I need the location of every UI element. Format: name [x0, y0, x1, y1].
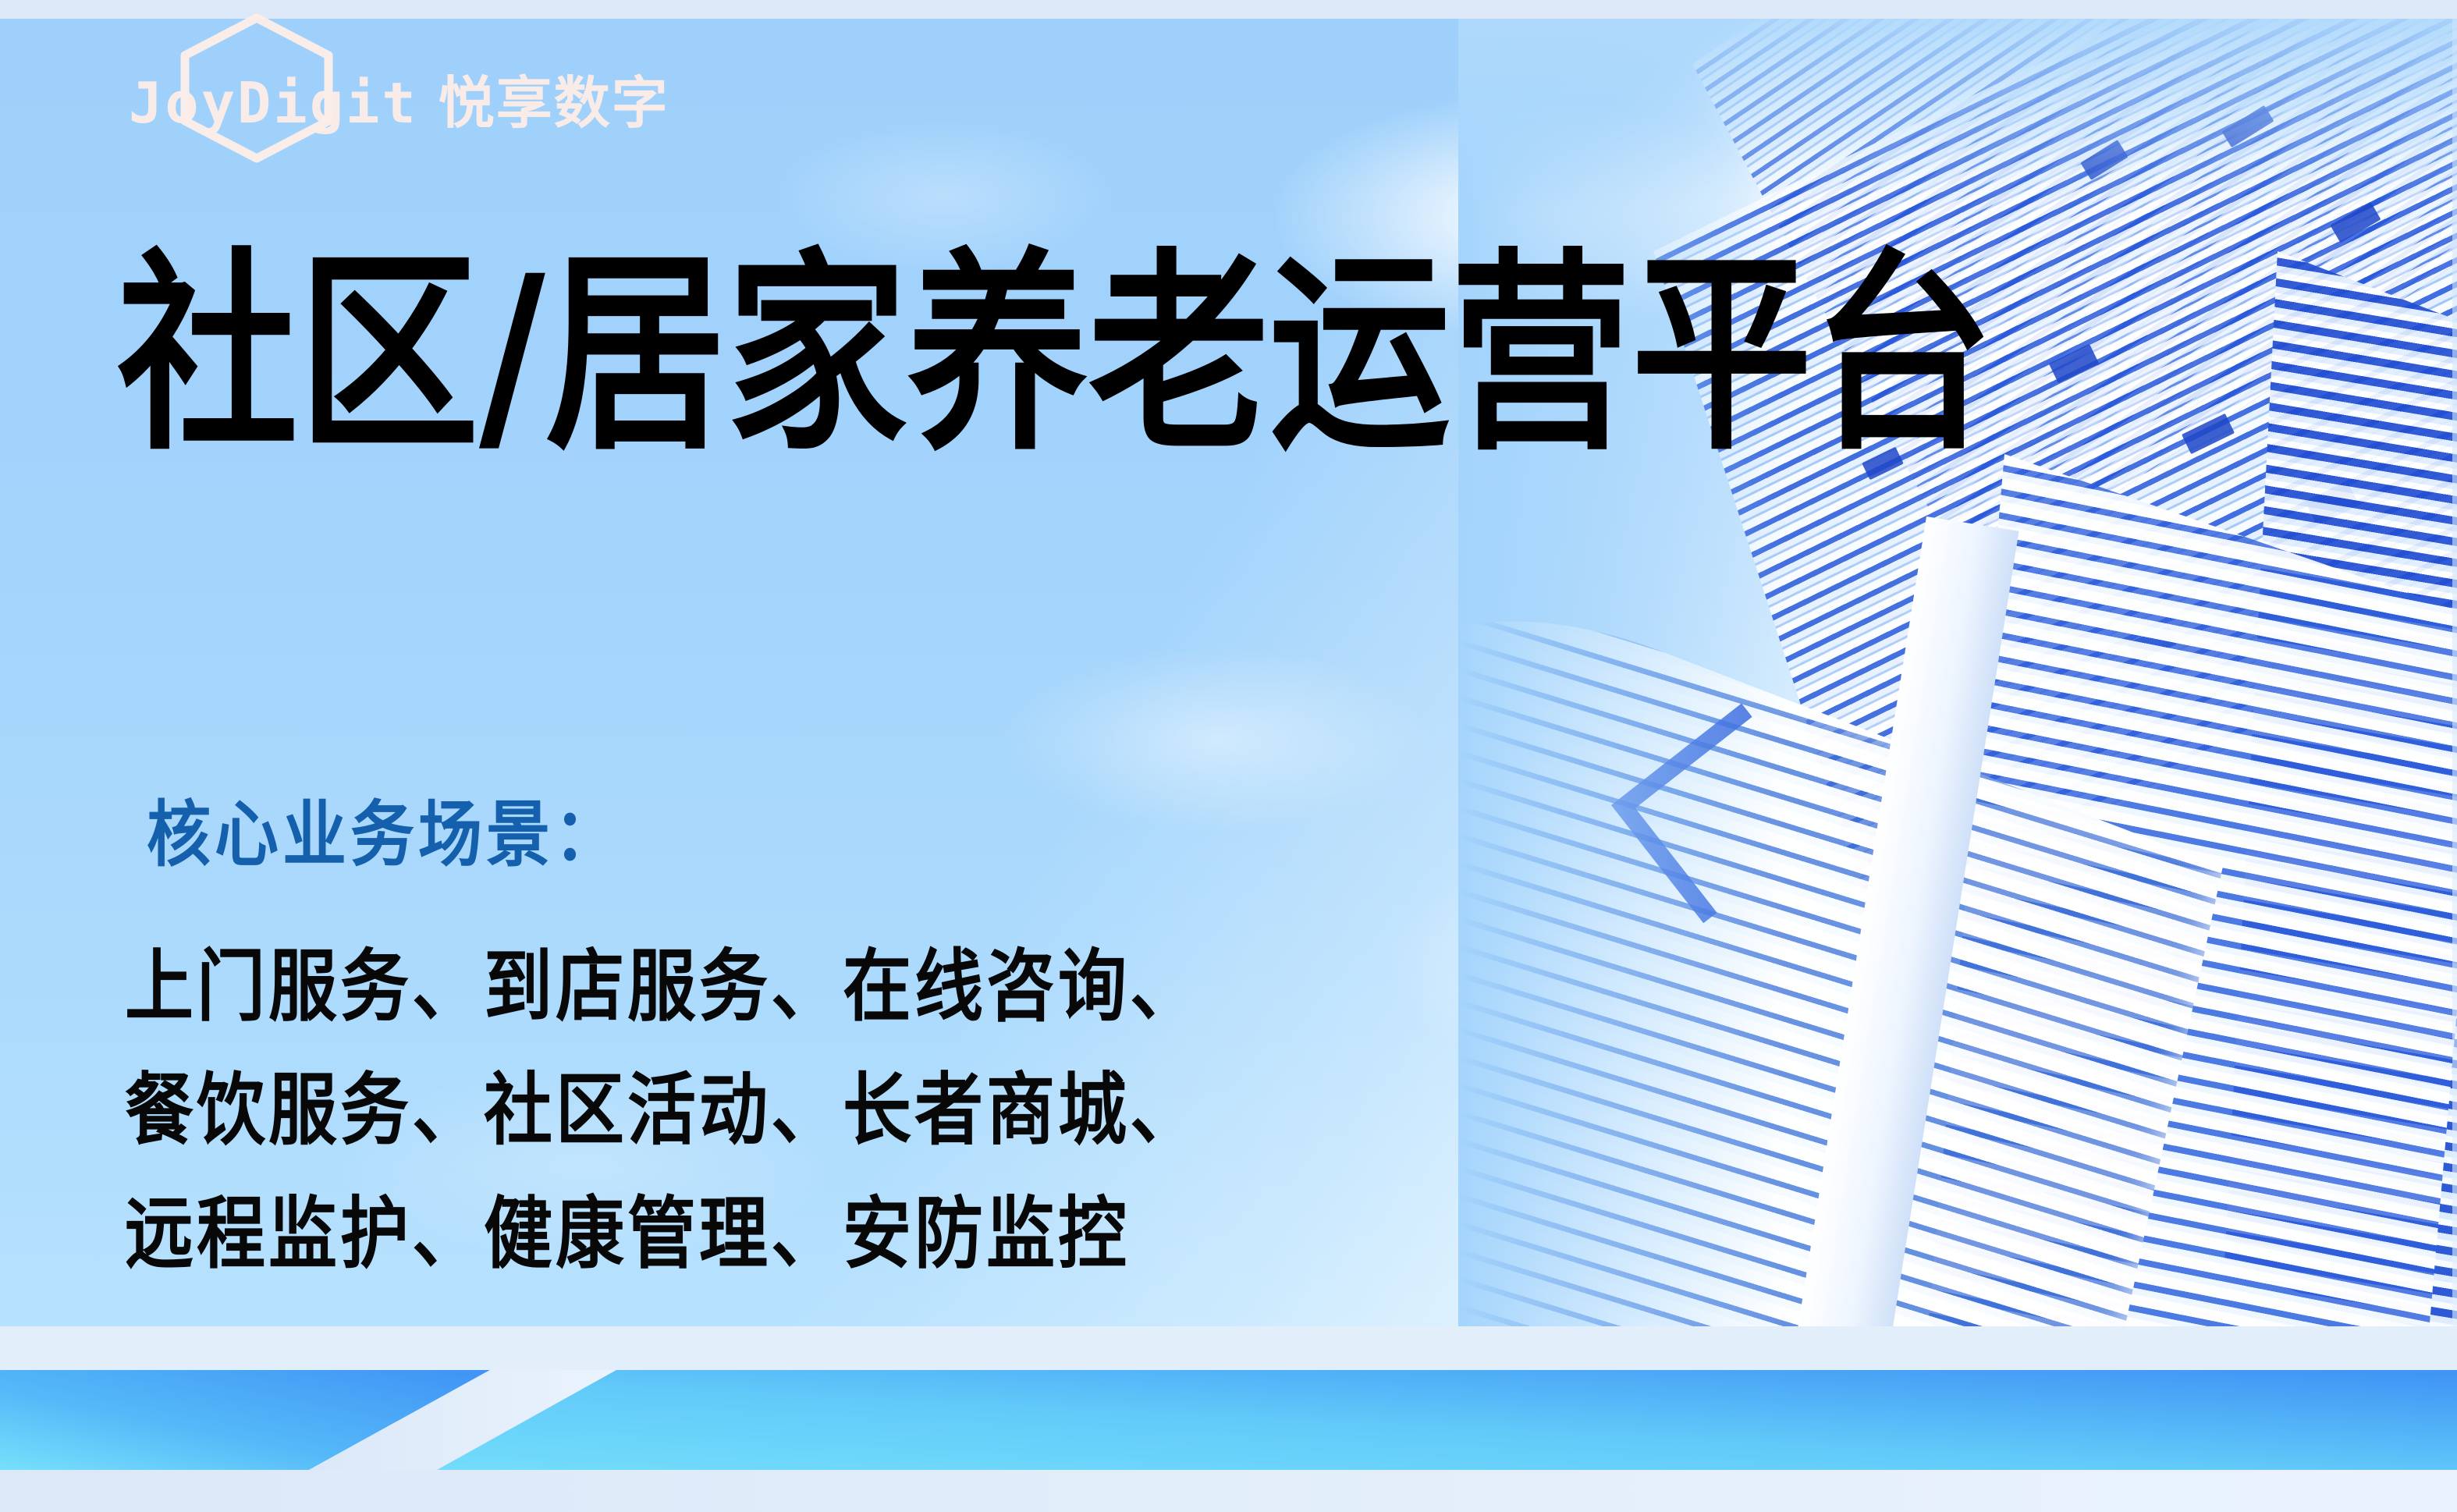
top-strip	[0, 0, 2457, 19]
skyscraper-image	[1458, 17, 2457, 1390]
page-title: 社区/居家养老运营平台	[117, 248, 1994, 462]
image-fade-left	[1458, 17, 1786, 1390]
brand-logo[interactable]: JoyDigit悦享数字	[129, 35, 659, 137]
brand-logo-text: JoyDigit悦享数字	[129, 57, 669, 139]
section-heading: 核心业务场景：	[147, 776, 622, 880]
scenario-line: 上门服务、到店服务、在线咨询、	[125, 925, 1202, 1048]
slide-root: JoyDigit悦享数字 社区/居家养老运营平台 核心业务场景： 上门服务、到店…	[0, 0, 2457, 1512]
scenario-list: 上门服务、到店服务、在线咨询、 餐饮服务、社区活动、长者商城、 远程监护、健康管…	[125, 925, 1202, 1295]
bottom-banner	[0, 1326, 2457, 1512]
banner-bottom-strip	[0, 1470, 2457, 1512]
scenario-line: 餐饮服务、社区活动、长者商城、	[125, 1048, 1202, 1171]
right-edge-sliver	[2452, 17, 2457, 1451]
banner-shape-right	[437, 1370, 2457, 1470]
brand-chinese: 悦享数字	[438, 70, 669, 136]
scenario-line: 远程监护、健康管理、安防监控	[125, 1172, 1202, 1295]
brand-latin: JoyDigit	[129, 70, 418, 136]
cloud-wisp	[921, 610, 1514, 868]
image-fade-top	[1458, 17, 2457, 204]
